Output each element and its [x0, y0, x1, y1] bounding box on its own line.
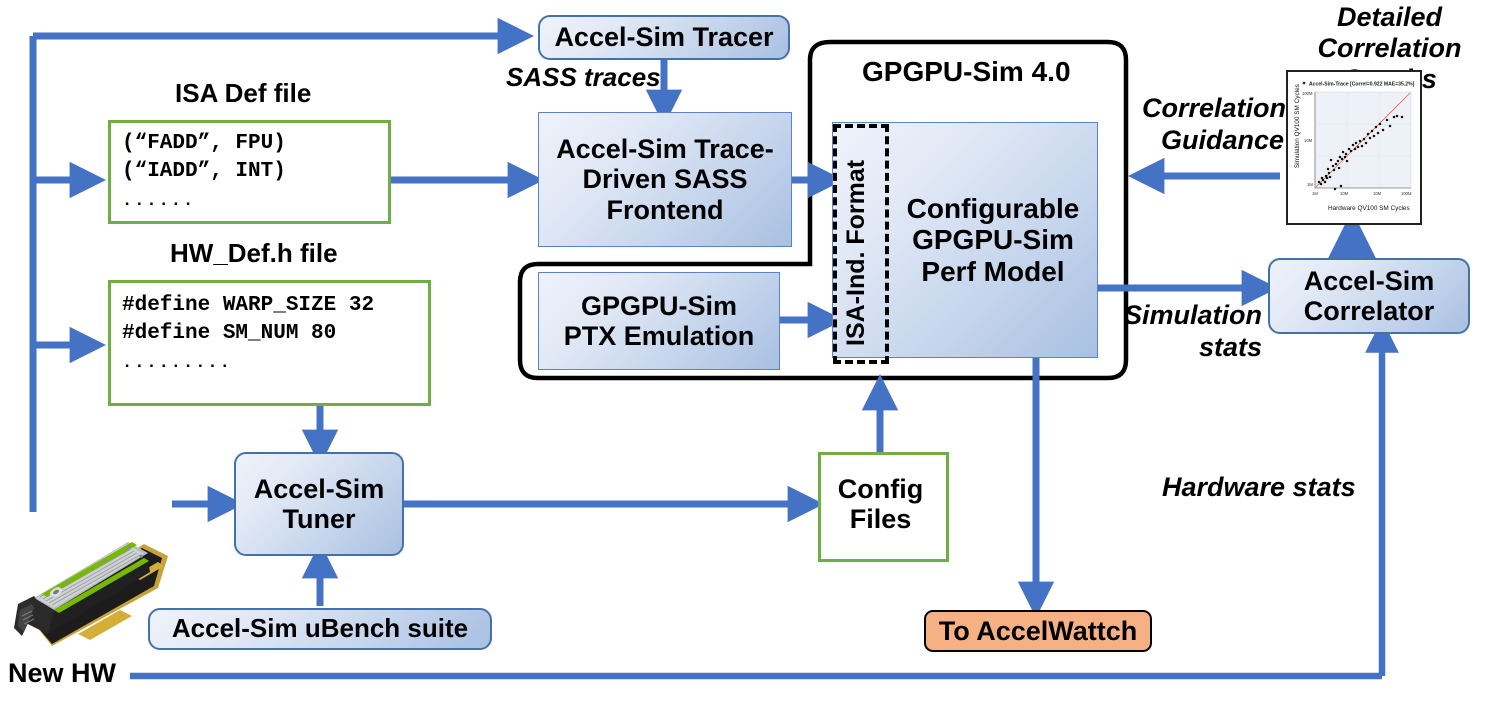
node-accel-sim-correlator[interactable]: Accel-Sim Correlator	[1268, 258, 1470, 334]
config-files-label: Config Files	[818, 452, 943, 556]
isa-def-line-2: (“IADD”, INT)	[122, 158, 385, 186]
isa-def-line-1: (“FADD”, FPU)	[122, 130, 385, 158]
chart-ylabel: Simulation QV100 SM Cycles	[1294, 84, 1301, 168]
correlation-graph-thumbnail[interactable]: Accel-Sim-Trace [Correl=0.922 MAE=35.2%]	[1286, 70, 1422, 225]
node-accel-sim-tracer[interactable]: Accel-Sim Tracer	[538, 15, 790, 60]
gpgpusim-container-title: GPGPU-Sim 4.0	[862, 56, 1071, 88]
svg-text:1M: 1M	[1307, 182, 1313, 187]
isa-ind-format-label: ISA-Ind. Format	[842, 134, 871, 346]
isa-def-title: ISA Def file	[175, 78, 311, 109]
isa-def-ellipsis: ......	[122, 191, 195, 214]
svg-text:10M: 10M	[1340, 191, 1349, 196]
svg-text:100M: 100M	[1302, 91, 1313, 96]
svg-text:10M: 10M	[1373, 191, 1382, 196]
node-sass-frontend[interactable]: Accel-Sim Trace- Driven SASS Frontend	[538, 112, 792, 247]
label-sass-traces: SASS traces	[506, 62, 661, 93]
hw-def-line-2: #define SM_NUM 80	[122, 320, 425, 348]
label-new-hw: New HW	[8, 658, 116, 689]
node-ubench-suite[interactable]: Accel-Sim uBench suite	[148, 608, 492, 650]
svg-text:10M: 10M	[1304, 138, 1313, 143]
svg-text:1M: 1M	[1312, 191, 1318, 196]
hw-def-code: #define WARP_SIZE 32 #define SM_NUM 80 .…	[108, 282, 425, 400]
svg-text:100M: 100M	[1401, 191, 1412, 196]
chart-legend-text: Accel-Sim-Trace [Correl=0.922 MAE=35.2%]	[1309, 82, 1415, 88]
label-correlation-guidance: Correlation Guidance	[1142, 92, 1284, 157]
node-ptx-emulation[interactable]: GPGPU-Sim PTX Emulation	[538, 272, 780, 370]
hw-def-title: HW_Def.h file	[170, 238, 338, 269]
node-accel-sim-tuner[interactable]: Accel-Sim Tuner	[234, 452, 404, 556]
label-hardware-stats: Hardware stats	[1162, 472, 1356, 503]
hw-def-ellipsis: .........	[122, 353, 232, 376]
hw-def-line-1: #define WARP_SIZE 32	[122, 292, 425, 320]
chart-xlabel: Hardware QV100 SM Cycles	[1328, 205, 1410, 212]
diagram-canvas: ISA Def file (“FADD”, FPU) (“IADD”, INT)…	[0, 0, 1497, 701]
gpu-card-image	[8, 498, 186, 656]
node-to-accelwattch[interactable]: To AccelWattch	[924, 610, 1152, 652]
isa-def-code: (“FADD”, FPU) (“IADD”, INT) ......	[108, 120, 385, 218]
label-simulation-stats: Simulation stats	[1112, 300, 1262, 364]
